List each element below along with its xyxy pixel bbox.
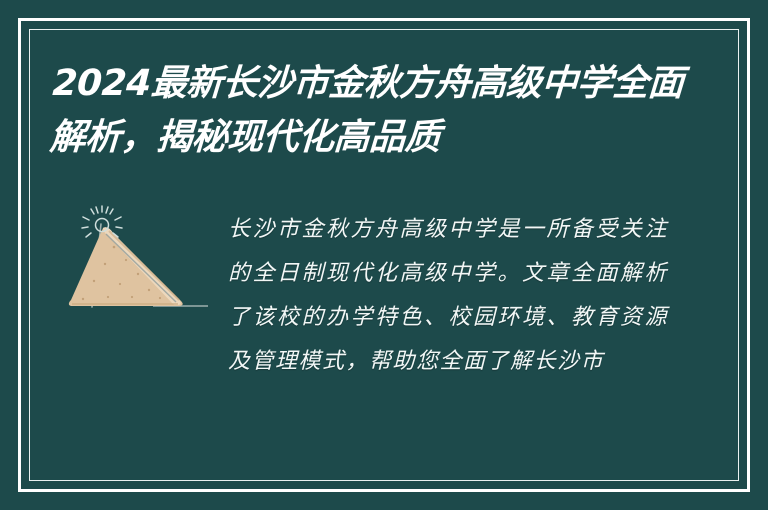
sand-dune-illustration: [48, 198, 218, 322]
page-title: 2024最新长沙市金秋方舟高级中学全面解析，揭秘现代化高品质: [48, 57, 714, 165]
body-paragraph: 长沙市金秋方舟高级中学是一所备受关注的全日制现代化高级中学。文章全面解析了该校的…: [228, 208, 668, 384]
poster-canvas: 2024最新长沙市金秋方舟高级中学全面解析，揭秘现代化高品质: [0, 0, 768, 510]
